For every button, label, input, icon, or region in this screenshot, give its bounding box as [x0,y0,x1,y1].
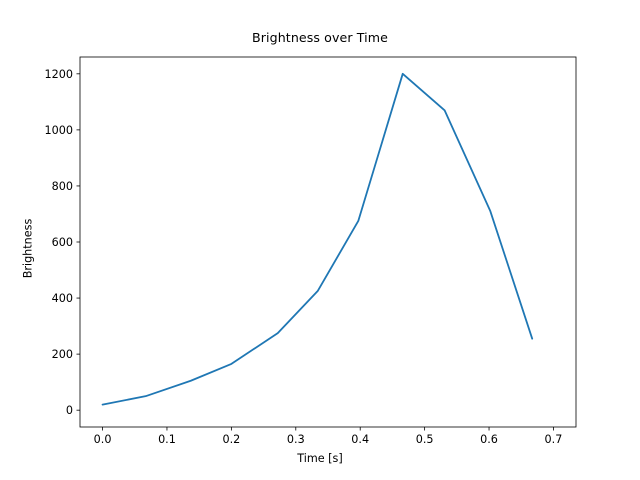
plot-area: 0.00.10.20.30.40.50.60.70200400600800100… [0,0,640,480]
data-line-brightness [103,74,533,405]
x-tick-label: 0.5 [416,433,434,446]
x-tick-label: 0.0 [94,433,112,446]
y-tick-label: 0 [66,404,73,417]
y-tick-label: 1200 [45,68,73,81]
chart-figure: Brightness over Time 0.00.10.20.30.40.50… [0,0,640,480]
x-tick-label: 0.3 [287,433,305,446]
x-tick-label: 0.6 [480,433,498,446]
y-tick-label: 600 [52,236,73,249]
x-axis-label: Time [s] [0,452,640,465]
x-tick-label: 0.7 [545,433,563,446]
axes-frame [80,57,576,427]
y-tick-label: 400 [52,292,73,305]
y-tick-label: 800 [52,180,73,193]
y-tick-label: 1000 [45,124,73,137]
y-axis-label: Brightness [22,169,35,329]
x-tick-label: 0.4 [351,433,369,446]
x-tick-label: 0.1 [158,433,176,446]
y-tick-label: 200 [52,348,73,361]
x-tick-label: 0.2 [222,433,240,446]
